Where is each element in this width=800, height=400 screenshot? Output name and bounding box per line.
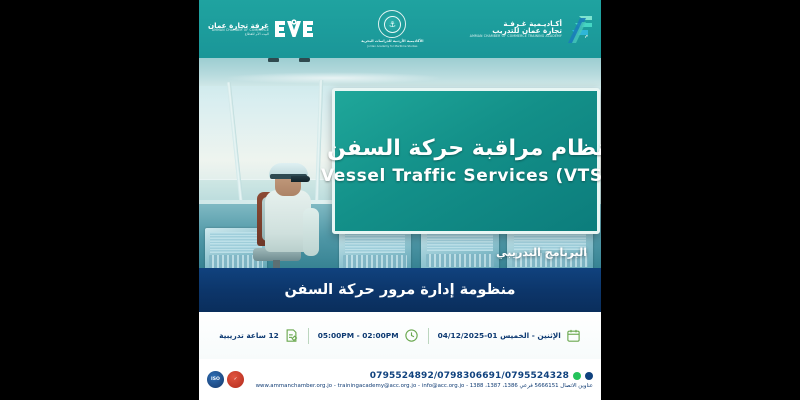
acc-tagline-ar: البيت الأم للقطاع — [208, 33, 269, 37]
training-academy-name-en: AMMAN CHAMBER OF COMMERCE TRAINING ACADE… — [470, 35, 562, 38]
maritime-name-ar: الأكاديمية الأردنية للدراسات البحرية — [361, 39, 423, 43]
info-item-date: الإثنين - الخميس 01-04/12/2025 — [429, 328, 590, 343]
program-title: منظومة إدارة مرور حركة السفن — [284, 282, 515, 298]
program-title-bar: منظومة إدارة مرور حركة السفن — [199, 268, 601, 312]
panel-knobs — [343, 255, 406, 267]
maritime-name-en: Jordan Academy for Maritime Studies — [367, 44, 417, 48]
acc-name-en: AMMAN CHAMBER OF COMMERCE — [208, 29, 269, 32]
officer-arm — [303, 208, 319, 256]
calendar-icon — [566, 328, 581, 343]
info-item-time: 05:00PM - 02:00PM — [309, 328, 428, 343]
iso-certification-badge-blue-icon: ISO — [207, 371, 224, 388]
phone-icon — [585, 372, 593, 380]
seal-anchor-icon: ⚓ — [384, 16, 401, 33]
training-program-poster: غرفة تجارة عمان AMMAN CHAMBER OF COMMERC… — [199, 0, 601, 400]
acc-diamond-mark-icon — [273, 18, 315, 40]
contact-details-line[interactable]: عناوين الاتصال 5666151 فرعي 1386، 1387، … — [256, 383, 593, 389]
phone-row: 0795524892/0798306691/0795524328 — [370, 371, 593, 381]
logo-jordan-maritime-academy: ⚓ الأكاديمية الأردنية للدراسات البحرية J… — [361, 10, 423, 48]
display-title-en: Vessel Traffic Services (VTS) — [321, 166, 601, 186]
program-info-strip: الإثنين - الخميس 01-04/12/2025 05:00PM -… — [199, 312, 601, 359]
officer-epaulette-right — [299, 58, 310, 62]
info-item-hours: 12 ساعة تدريبية — [210, 328, 308, 343]
display-title-ar: نظام مراقبة حركة السفن — [327, 136, 601, 161]
panel-screen — [345, 232, 405, 252]
phone-numbers[interactable]: 0795524892/0798306691/0795524328 — [370, 371, 569, 381]
vts-display-screen: نظام مراقبة حركة السفن Vessel Traffic Se… — [332, 88, 600, 234]
info-hours-text: 12 ساعة تدريبية — [219, 331, 279, 340]
screenshot-stage: غرفة تجارة عمان AMMAN CHAMBER OF COMMERC… — [0, 0, 800, 400]
panel-knobs — [426, 254, 495, 267]
maritime-academy-seal-icon: ⚓ — [378, 10, 406, 38]
logo-acc-training-academy: أكـاديـمية غـرفـة تجارة عمان للتدريب AMM… — [470, 16, 592, 43]
logo-bar: غرفة تجارة عمان AMMAN CHAMBER OF COMMERC… — [199, 0, 601, 58]
accreditation-badge-red-icon: ✓ — [227, 371, 244, 388]
hero-ship-bridge-photo: نظام مراقبة حركة السفن Vessel Traffic Se… — [199, 52, 601, 278]
svg-text:م: م — [585, 33, 588, 39]
certification-badges: ISO ✓ — [207, 371, 244, 388]
program-label: البرنامج التدريبي — [496, 246, 587, 259]
officer-epaulette-left — [268, 58, 279, 62]
footer-text-lines: 0795524892/0798306691/0795524328 عناوين … — [249, 371, 593, 389]
console-panel-2 — [339, 228, 411, 272]
logo-amman-chamber-of-commerce: غرفة تجارة عمان AMMAN CHAMBER OF COMMERC… — [208, 18, 315, 40]
info-date-text: الإثنين - الخميس 01-04/12/2025 — [438, 331, 561, 340]
info-time-text: 05:00PM - 02:00PM — [318, 331, 399, 340]
training-academy-mark-icon: م — [566, 16, 592, 43]
document-pen-icon — [284, 328, 299, 343]
officer-cap-visor — [291, 176, 310, 182]
whatsapp-icon — [573, 372, 581, 380]
footer-contact-bar: ISO ✓ 0795524892/0798306691/0795524328 ع… — [199, 359, 601, 400]
clock-icon — [404, 328, 419, 343]
